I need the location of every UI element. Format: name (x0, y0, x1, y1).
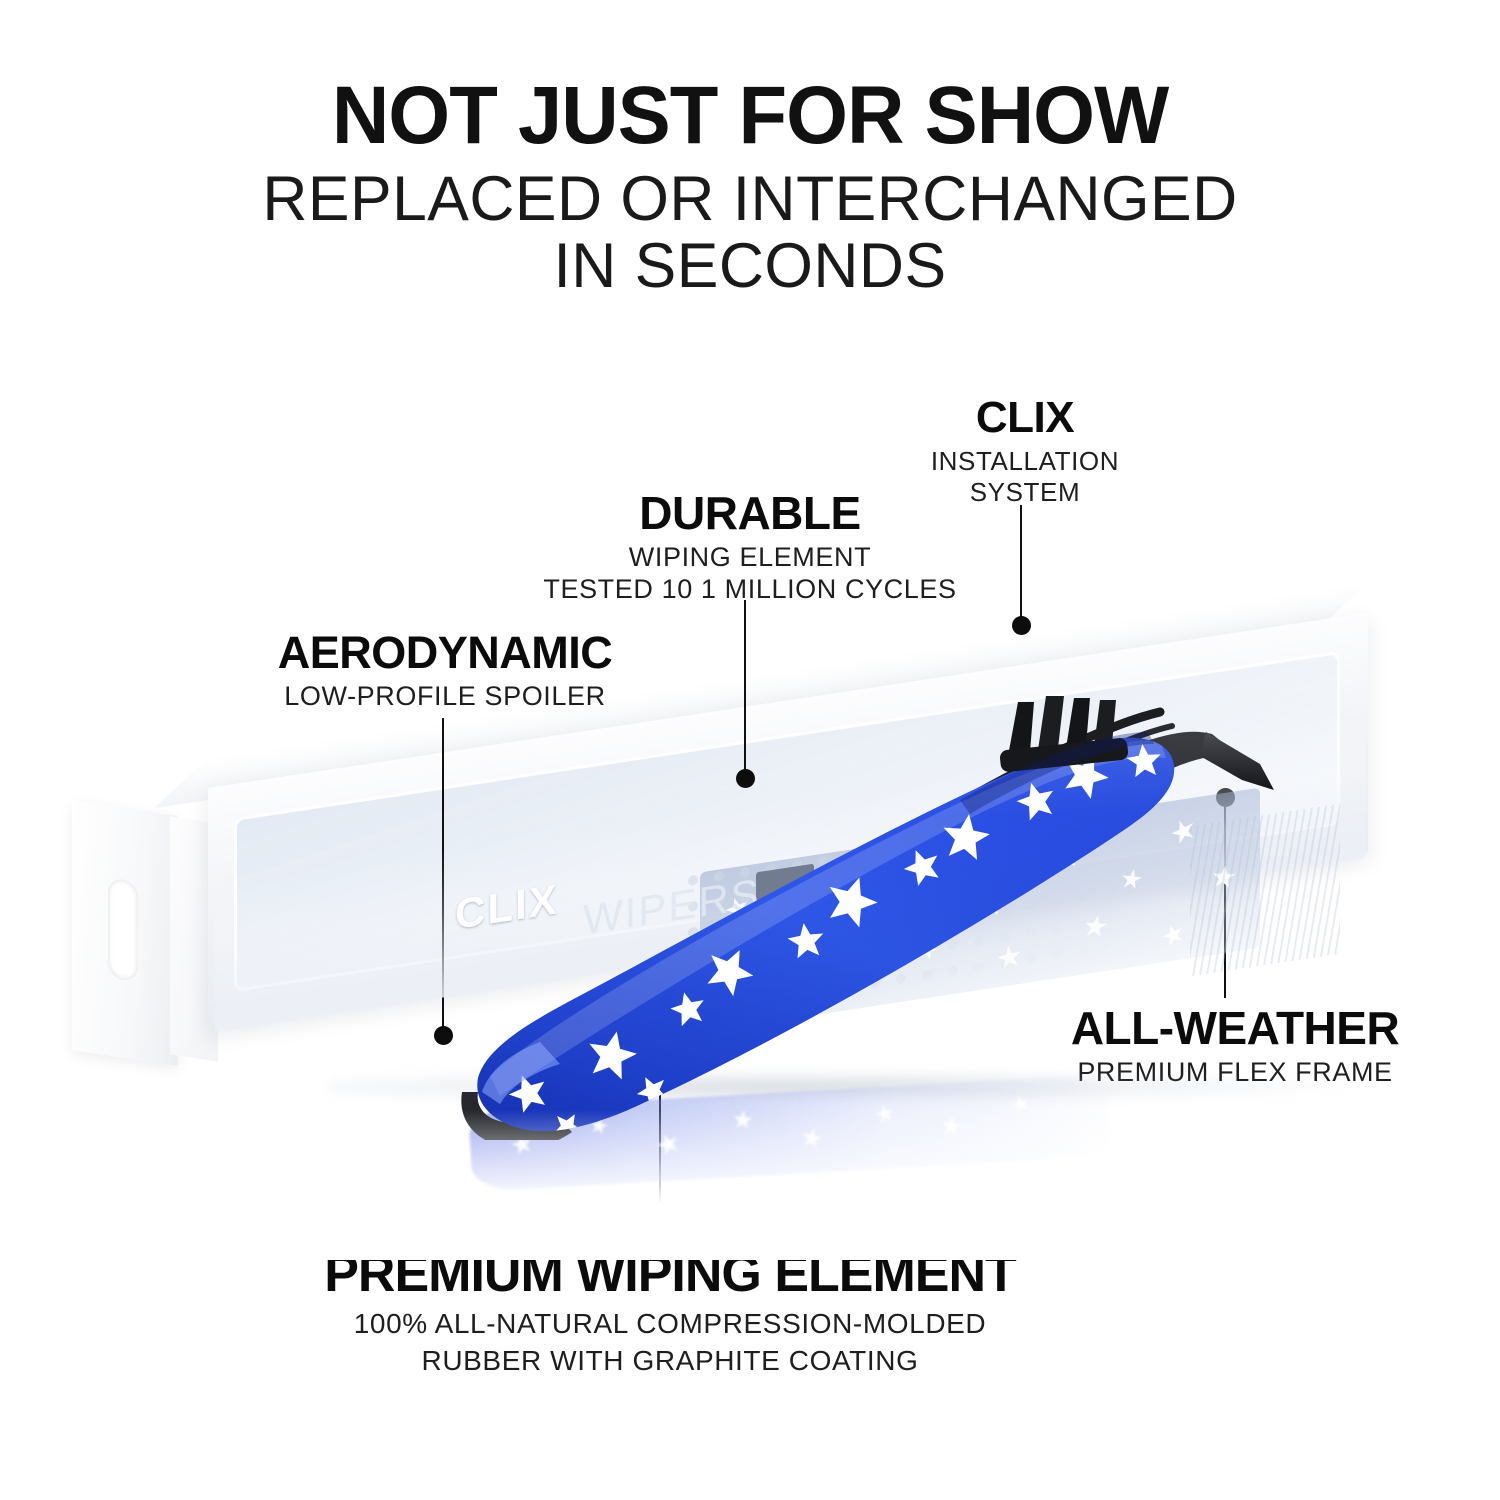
callout-premium-sub-1: 100% ALL-NATURAL COMPRESSION-MOLDED (230, 1306, 1110, 1343)
scene-bottom-fade (0, 1110, 1500, 1260)
callout-durable: DURABLE WIPING ELEMENT TESTED 10 1 MILLI… (490, 490, 1010, 606)
callout-durable-title: DURABLE (490, 490, 1010, 536)
headline-main: NOT JUST FOR SHOW (23, 76, 1478, 156)
infographic-page: NOT JUST FOR SHOW REPLACED OR INTERCHANG… (0, 0, 1500, 1500)
wiper-blade (400, 640, 1410, 1140)
leader-line-clix (1020, 505, 1022, 621)
headline-subline-2: IN SECONDS (8, 233, 1493, 300)
callout-clix-title: CLIX (860, 396, 1190, 440)
package-hang-tab (72, 800, 178, 1066)
leader-dot-clix (1012, 616, 1031, 635)
callout-durable-sub-2: TESTED 10 1 MILLION CYCLES (490, 574, 1010, 606)
product-photo: ★★★★★★★★★★★★★★★ CLIX WIPERS (0, 640, 1500, 1260)
wiper-rubber-tip (1200, 732, 1274, 790)
callout-premium-sub-2: RUBBER WITH GRAPHITE COATING (230, 1343, 1110, 1380)
callout-clix-sub-1: INSTALLATION (860, 446, 1190, 477)
headline-subline-1: REPLACED OR INTERCHANGED (8, 166, 1493, 233)
headline-block: NOT JUST FOR SHOW REPLACED OR INTERCHANG… (0, 76, 1500, 300)
callout-durable-sub-1: WIPING ELEMENT (490, 542, 1010, 574)
callout-premium-wiping-element: PREMIUM WIPING ELEMENT 100% ALL-NATURAL … (230, 1248, 1110, 1380)
